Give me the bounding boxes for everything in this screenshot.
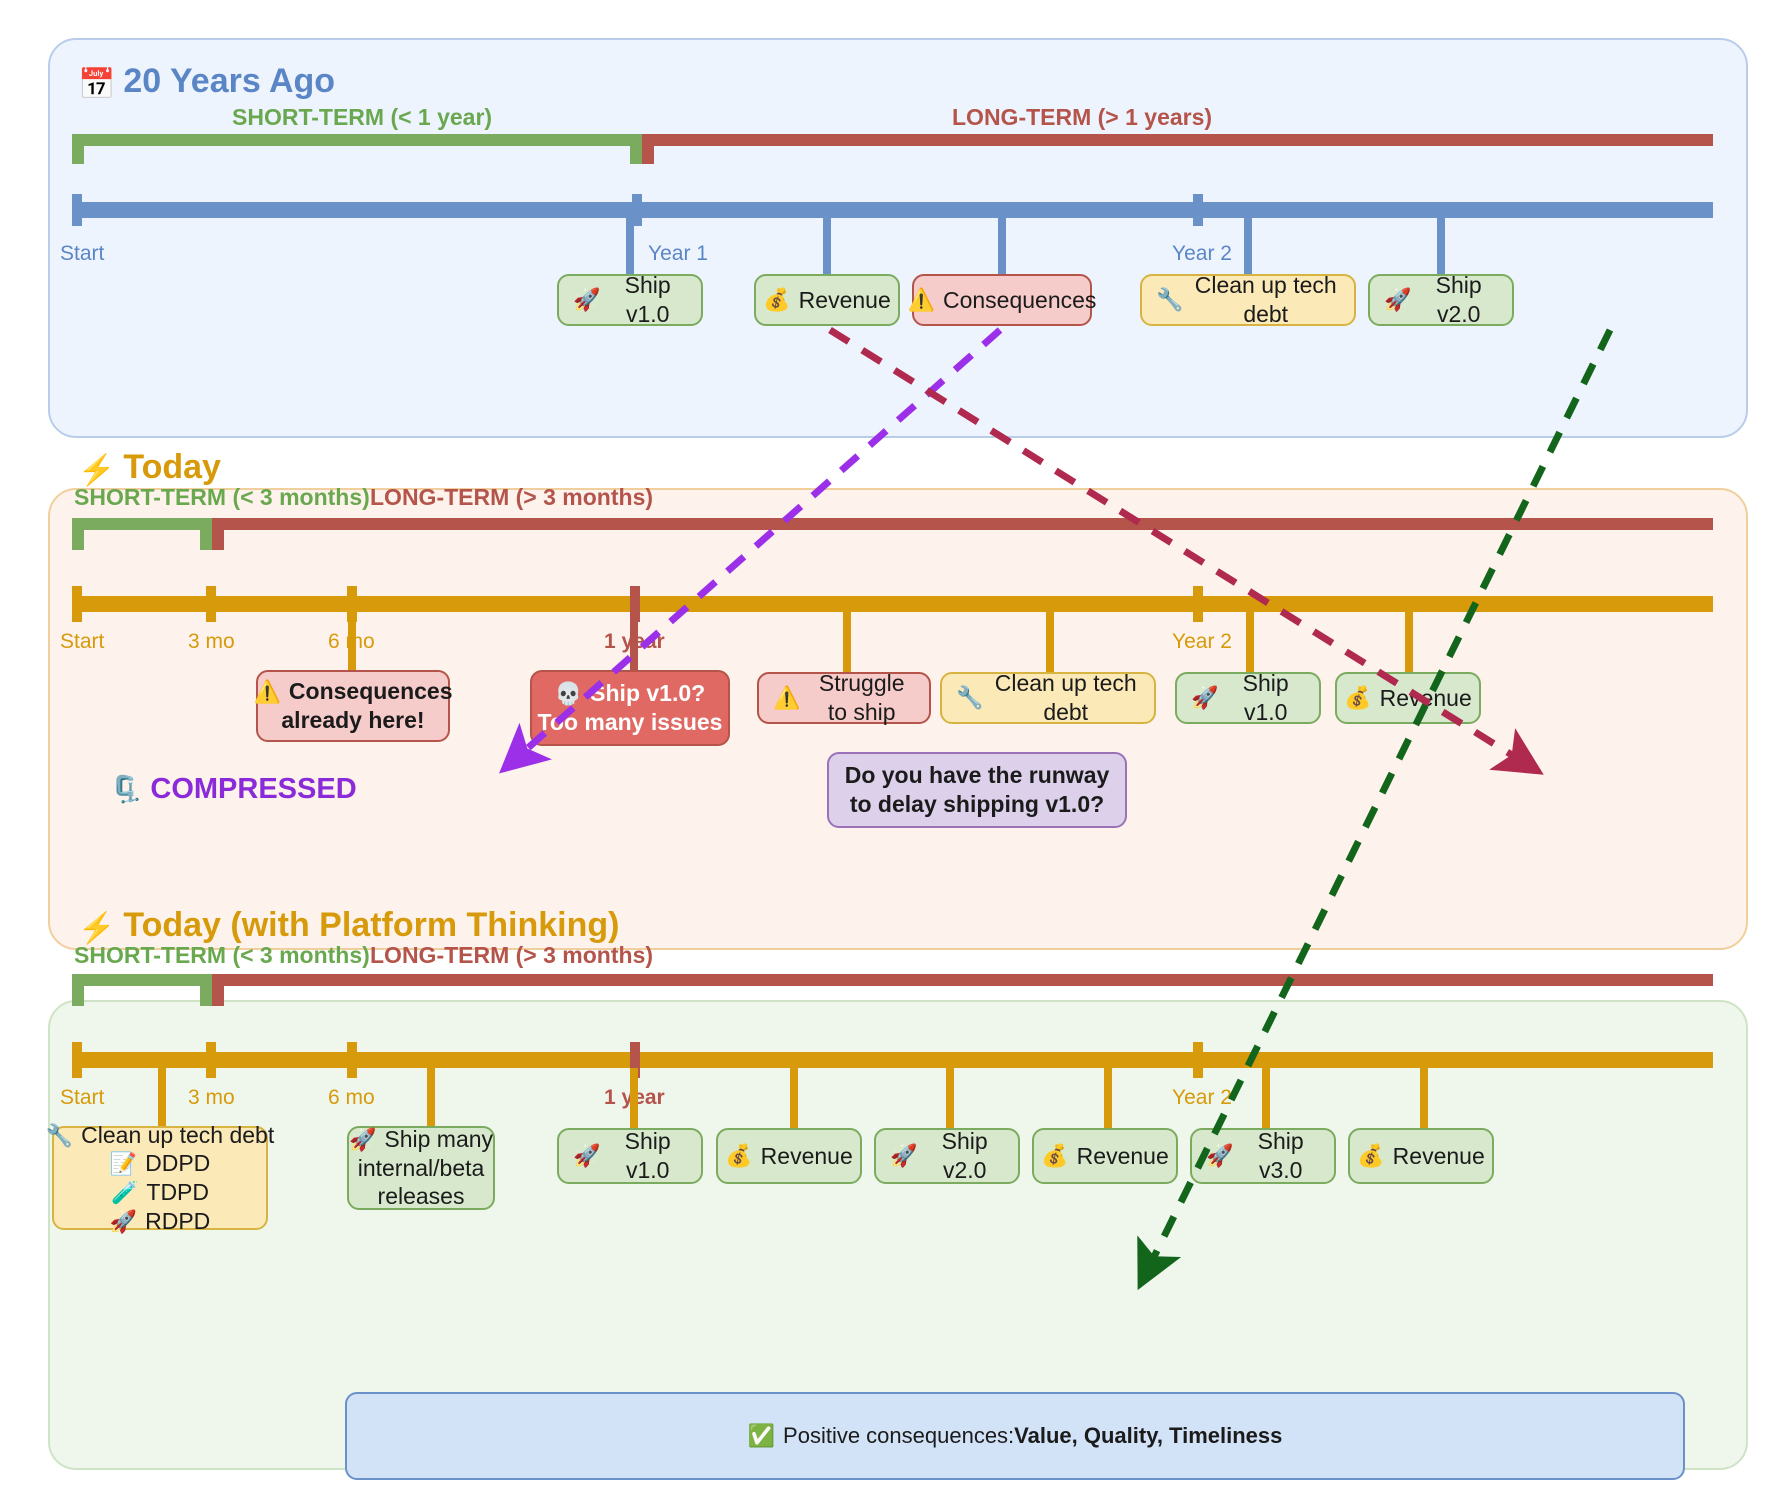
moneybag-icon: 💰 — [763, 286, 790, 314]
check-mark-icon: ✅ — [748, 1422, 775, 1450]
event-node-ship-v1-past[interactable]: 🚀Ship v1.0 — [557, 274, 703, 326]
rocket-icon: 🚀 — [349, 1127, 376, 1152]
section-title-past: 📅20 Years Ago — [78, 62, 335, 102]
positive-consequences-banner[interactable]: ✅Positive consequences: Value, Quality, … — [345, 1392, 1685, 1480]
event-node-ship-v1-platform[interactable]: 🚀Ship v1.0 — [557, 1128, 703, 1184]
short-term-bar-platform — [72, 974, 212, 986]
lightning-icon: ⚡ — [78, 454, 115, 487]
event-node-label: Consequences — [289, 678, 453, 704]
rocket-icon: 🚀 — [110, 1209, 137, 1234]
event-node-label: Ship v2.0 — [925, 1127, 1004, 1185]
stem-revenue1-platform — [790, 1068, 798, 1128]
rocket-icon: 🚀 — [573, 286, 600, 314]
long-term-bar-today — [212, 518, 1713, 530]
axis-label-3mo-platform: 3 mo — [188, 1086, 235, 1110]
warning-icon: ⚠️ — [254, 679, 281, 704]
stem-consequences-past — [998, 218, 1006, 278]
long-term-label-past: LONG-TERM (> 1 years) — [952, 104, 1212, 131]
short-term-cap-left-past — [72, 134, 84, 164]
calendar-icon: 📅 — [78, 68, 115, 101]
event-node-label: Clean up tech debt — [991, 669, 1140, 727]
stem-techdebt-platform — [158, 1068, 166, 1128]
stem-struggle-today — [843, 612, 851, 674]
long-term-bar-platform — [212, 974, 1713, 986]
event-node-ship-v2-past[interactable]: 🚀Ship v2.0 — [1368, 274, 1514, 326]
axis-tick-6mo-platform — [347, 1042, 357, 1078]
warning-icon: ⚠️ — [908, 286, 935, 314]
axis-tick-start-today — [72, 586, 82, 622]
rocket-icon: 🚀 — [1206, 1142, 1233, 1170]
event-node-revenue-past[interactable]: 💰Revenue — [754, 274, 900, 326]
stem-techdebt-past — [1244, 218, 1252, 278]
stem-ship-v1-platform — [630, 1068, 638, 1128]
axis-tick-3mo-platform — [206, 1042, 216, 1078]
stem-revenue3-platform — [1420, 1068, 1428, 1128]
axis-label-3mo-today: 3 mo — [188, 630, 235, 654]
callout-line-1: Do you have the runway — [845, 761, 1110, 790]
stem-ship-v2-past — [1437, 218, 1445, 278]
moneybag-icon: 💰 — [1357, 1142, 1384, 1170]
event-node-label: Revenue — [799, 286, 891, 315]
short-term-cap-left-platform — [72, 974, 84, 1006]
short-term-cap-right-today — [200, 518, 212, 550]
rocket-icon: 🚀 — [573, 1142, 600, 1170]
axis-tick-year2-today — [1193, 586, 1203, 622]
axis-label-start-today: Start — [60, 630, 104, 654]
stem-techdebt-today — [1046, 612, 1054, 674]
event-node-label-2: Too many issues — [538, 708, 723, 737]
event-node-revenue-3-platform[interactable]: 💰Revenue — [1348, 1128, 1494, 1184]
wrench-icon: 🔧 — [46, 1123, 73, 1148]
test-tube-icon: 🧪 — [111, 1180, 138, 1205]
long-term-cap-left-platform — [212, 974, 224, 1006]
event-node-label: Ship v1.0 — [608, 1127, 687, 1185]
event-node-label-2: internal/beta — [358, 1154, 485, 1183]
event-node-label: Ship v2.0 — [1419, 271, 1498, 329]
clamp-icon: 🗜️ — [110, 774, 142, 804]
banner-prefix: Positive consequences: — [783, 1422, 1014, 1450]
warning-icon: ⚠️ — [773, 684, 800, 712]
axis-tick-year2-past — [1193, 194, 1203, 226]
moneybag-icon: 💰 — [1344, 684, 1371, 712]
event-node-label: Revenue — [761, 1142, 853, 1171]
long-term-cap-left-past — [642, 134, 654, 164]
stem-revenue-past — [823, 218, 831, 278]
moneybag-icon: 💰 — [725, 1142, 752, 1170]
short-term-bar-today — [72, 518, 212, 530]
event-node-ship-v1-too-many-issues-today[interactable]: 💀Ship v1.0? Too many issues — [530, 670, 730, 746]
axis-tick-start-platform — [72, 1042, 82, 1078]
event-node-label: Revenue — [1380, 684, 1472, 713]
long-term-bar-past — [642, 134, 1713, 146]
axis-label-year1-past: Year 1 — [648, 242, 708, 266]
event-node-label: Ship v1.0? — [590, 680, 705, 706]
long-term-label-platform: LONG-TERM (> 3 months) — [370, 942, 653, 969]
wrench-icon: 🔧 — [1156, 286, 1183, 314]
wrench-icon: 🔧 — [956, 684, 983, 712]
event-node-tech-debt-platform[interactable]: 🔧Clean up tech debt 📝DDPD 🧪TDPD 🚀RDPD — [52, 1126, 268, 1230]
axis-label-year2-platform: Year 2 — [1172, 1086, 1232, 1110]
event-node-label-3: releases — [378, 1182, 465, 1211]
bullet-ddpd: 📝DDPD — [110, 1149, 211, 1178]
moneybag-icon: 💰 — [1041, 1142, 1068, 1170]
short-term-label-past: SHORT-TERM (< 1 year) — [232, 104, 492, 131]
rocket-icon: 🚀 — [1191, 684, 1218, 712]
event-node-revenue-2-platform[interactable]: 💰Revenue — [1032, 1128, 1178, 1184]
short-term-cap-right-platform — [200, 974, 212, 1006]
stem-ship-v3-platform — [1262, 1068, 1270, 1128]
compressed-label: 🗜️COMPRESSED — [110, 773, 357, 806]
short-term-label-platform: SHORT-TERM (< 3 months) — [74, 942, 370, 969]
event-node-consequences-past[interactable]: ⚠️Consequences — [912, 274, 1092, 326]
lightning-icon: ⚡ — [78, 912, 115, 945]
long-term-cap-left-today — [212, 518, 224, 550]
event-node-label: Ship v1.0 — [1226, 669, 1305, 727]
short-term-cap-left-today — [72, 518, 84, 550]
event-node-label-2: already here! — [281, 706, 424, 735]
event-node-label: Clean up tech debt — [1191, 271, 1340, 329]
axis-tick-start-past — [72, 194, 82, 226]
bullet-tdpd: 🧪TDPD — [111, 1178, 209, 1207]
event-node-label: Revenue — [1077, 1142, 1169, 1171]
event-node-tech-debt-past[interactable]: 🔧Clean up tech debt — [1140, 274, 1356, 326]
stem-ship-v1-today — [630, 612, 638, 674]
short-term-bar-past — [72, 134, 642, 146]
stem-revenue2-platform — [1104, 1068, 1112, 1128]
stem-ship-v1-late-today — [1246, 612, 1254, 674]
event-node-struggle-to-ship-today[interactable]: ⚠️Struggle to ship — [757, 672, 931, 724]
axis-label-start-platform: Start — [60, 1086, 104, 1110]
timeline-axis-platform — [72, 1052, 1713, 1068]
memo-icon: 📝 — [110, 1151, 137, 1176]
event-node-label: Ship v1.0 — [608, 271, 687, 329]
stem-internal-releases-platform — [427, 1068, 435, 1128]
timeline-axis-today — [72, 596, 1713, 612]
axis-tick-3mo-today — [206, 586, 216, 622]
axis-tick-year2-platform — [1193, 1042, 1203, 1078]
bullet-rdpd: 🚀RDPD — [110, 1207, 211, 1236]
stem-consequences-today — [348, 612, 356, 674]
event-node-ship-v3-platform[interactable]: 🚀Ship v3.0 — [1190, 1128, 1336, 1184]
axis-label-year2-past: Year 2 — [1172, 242, 1232, 266]
section-title-today: ⚡Today — [78, 448, 221, 488]
event-node-ship-v1-today[interactable]: 🚀Ship v1.0 — [1175, 672, 1321, 724]
section-title-platform: ⚡Today (with Platform Thinking) — [78, 906, 619, 946]
axis-label-year2-today: Year 2 — [1172, 630, 1232, 654]
stem-ship-v2-platform — [946, 1068, 954, 1128]
callout-line-2: to delay shipping v1.0? — [850, 790, 1104, 819]
skull-icon: 💀 — [555, 681, 582, 706]
event-node-label: Revenue — [1393, 1142, 1485, 1171]
long-term-label-today: LONG-TERM (> 3 months) — [370, 484, 653, 511]
event-node-label: Clean up tech debt — [81, 1122, 274, 1148]
event-node-ship-v2-platform[interactable]: 🚀Ship v2.0 — [874, 1128, 1020, 1184]
event-node-tech-debt-today[interactable]: 🔧Clean up tech debt — [940, 672, 1156, 724]
rocket-icon: 🚀 — [1384, 286, 1411, 314]
rocket-icon: 🚀 — [890, 1142, 917, 1170]
timeline-axis-past — [72, 202, 1713, 218]
event-node-internal-beta-releases-platform[interactable]: 🚀Ship many internal/beta releases — [347, 1126, 495, 1210]
stem-revenue-today — [1405, 612, 1413, 674]
axis-label-6mo-platform: 6 mo — [328, 1086, 375, 1110]
stem-ship-v1-past — [626, 218, 634, 278]
event-node-label: Ship many — [384, 1126, 493, 1152]
event-node-revenue-1-platform[interactable]: 💰Revenue — [716, 1128, 862, 1184]
event-node-revenue-today[interactable]: 💰Revenue — [1335, 672, 1481, 724]
banner-highlight: Value, Quality, Timeliness — [1014, 1422, 1282, 1450]
diagram-canvas: 📅20 Years Ago SHORT-TERM (< 1 year) LONG… — [0, 0, 1785, 1505]
axis-label-start-past: Start — [60, 242, 104, 266]
event-node-label: Ship v3.0 — [1241, 1127, 1320, 1185]
event-node-label: Struggle to ship — [808, 669, 915, 727]
callout-runway-question[interactable]: Do you have the runway to delay shipping… — [827, 752, 1127, 828]
event-node-consequences-already-here-today[interactable]: ⚠️Consequences already here! — [256, 670, 450, 742]
short-term-label-today: SHORT-TERM (< 3 months) — [74, 484, 370, 511]
event-node-label: Consequences — [943, 286, 1096, 315]
short-term-cap-right-past — [630, 134, 642, 164]
